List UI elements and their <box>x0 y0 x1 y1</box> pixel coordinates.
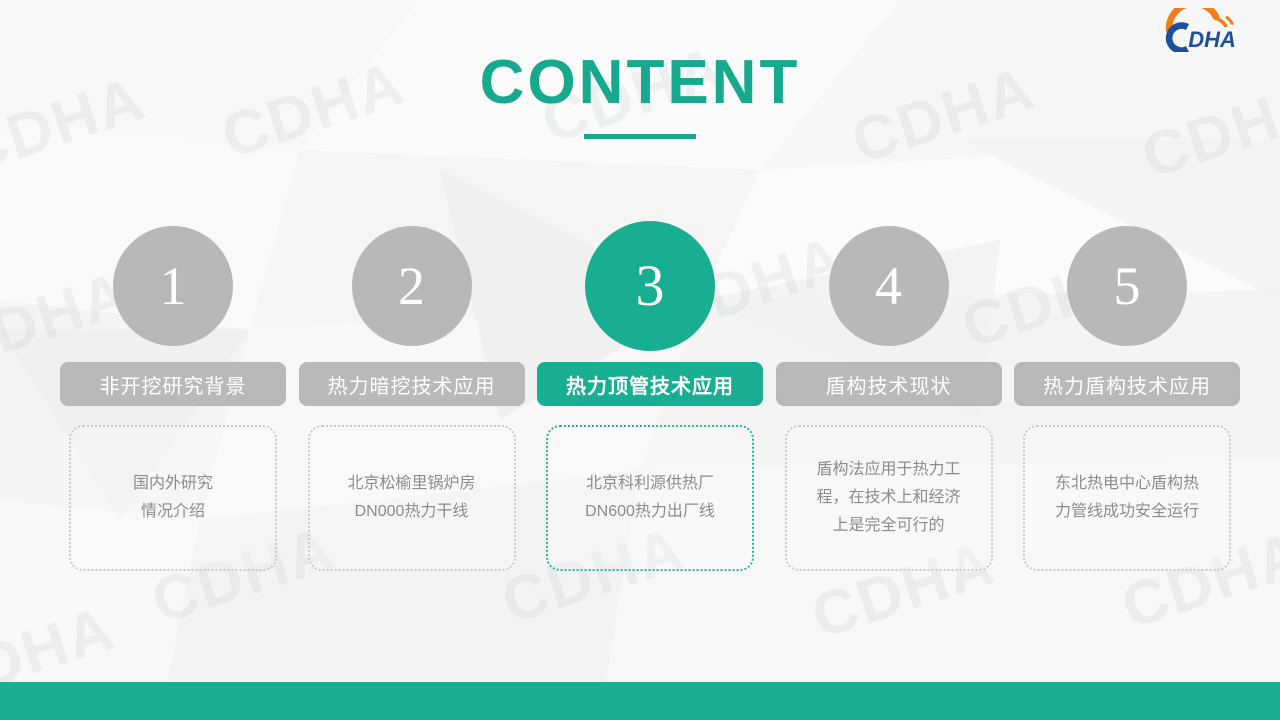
step-label-3[interactable]: 热力顶管技术应用 <box>537 362 763 406</box>
logo-text: DHA <box>1188 27 1236 52</box>
step-number-circle-4[interactable]: 4 <box>829 226 949 346</box>
step-number-circle-2[interactable]: 2 <box>352 226 472 346</box>
step-number-circle-1[interactable]: 1 <box>113 226 233 346</box>
step-description-card-3[interactable]: 北京科利源供热厂 DN600热力出厂线 <box>546 425 754 571</box>
step-label-2[interactable]: 热力暗挖技术应用 <box>299 362 525 406</box>
cdha-logo: DHA <box>1152 8 1264 52</box>
step-number-circle-3[interactable]: 3 <box>585 221 715 351</box>
page-title: CONTENT <box>0 52 1280 114</box>
step-description-text-4: 盾构法应用于热力工 程，在技术上和经济 上是完全可行的 <box>816 456 960 540</box>
circle-wrap-3: 3 <box>585 212 715 360</box>
content-item-5[interactable]: 5 热力盾构技术应用 东北热电中心盾构热 力管线成功安全运行 <box>1014 212 1240 571</box>
presentation-slide: CDHA CDHA CDHA CDHA CDHA CDHA CDHA CDHA … <box>0 0 1280 720</box>
content-item-3[interactable]: 3 热力顶管技术应用 北京科利源供热厂 DN600热力出厂线 <box>537 212 763 571</box>
step-description-text-5: 东北热电中心盾构热 力管线成功安全运行 <box>1055 470 1199 526</box>
step-label-4[interactable]: 盾构技术现状 <box>776 362 1002 406</box>
content-columns: 1 非开挖研究背景 国内外研究 情况介绍 2 热力暗挖技术应用 北京松榆里锅炉房… <box>60 212 1240 582</box>
content-item-4[interactable]: 4 盾构技术现状 盾构法应用于热力工 程，在技术上和经济 上是完全可行的 <box>776 212 1002 571</box>
step-label-5[interactable]: 热力盾构技术应用 <box>1014 362 1240 406</box>
content-item-2[interactable]: 2 热力暗挖技术应用 北京松榆里锅炉房 DN000热力干线 <box>299 212 525 571</box>
step-description-text-2: 北京松榆里锅炉房 DN000热力干线 <box>347 470 475 526</box>
step-description-card-5[interactable]: 东北热电中心盾构热 力管线成功安全运行 <box>1023 425 1231 571</box>
circle-wrap-1: 1 <box>113 212 233 360</box>
content-item-1[interactable]: 1 非开挖研究背景 国内外研究 情况介绍 <box>60 212 286 571</box>
circle-wrap-5: 5 <box>1067 212 1187 360</box>
title-underline <box>584 134 696 139</box>
step-description-text-3: 北京科利源供热厂 DN600热力出厂线 <box>585 470 715 526</box>
step-description-card-4[interactable]: 盾构法应用于热力工 程，在技术上和经济 上是完全可行的 <box>785 425 993 571</box>
step-description-card-2[interactable]: 北京松榆里锅炉房 DN000热力干线 <box>308 425 516 571</box>
circle-wrap-2: 2 <box>352 212 472 360</box>
step-description-card-1[interactable]: 国内外研究 情况介绍 <box>69 425 277 571</box>
circle-wrap-4: 4 <box>829 212 949 360</box>
step-description-text-1: 国内外研究 情况介绍 <box>133 470 213 526</box>
bottom-accent-band <box>0 682 1280 720</box>
step-number-circle-5[interactable]: 5 <box>1067 226 1187 346</box>
title-block: CONTENT <box>0 52 1280 139</box>
step-label-1[interactable]: 非开挖研究背景 <box>60 362 286 406</box>
